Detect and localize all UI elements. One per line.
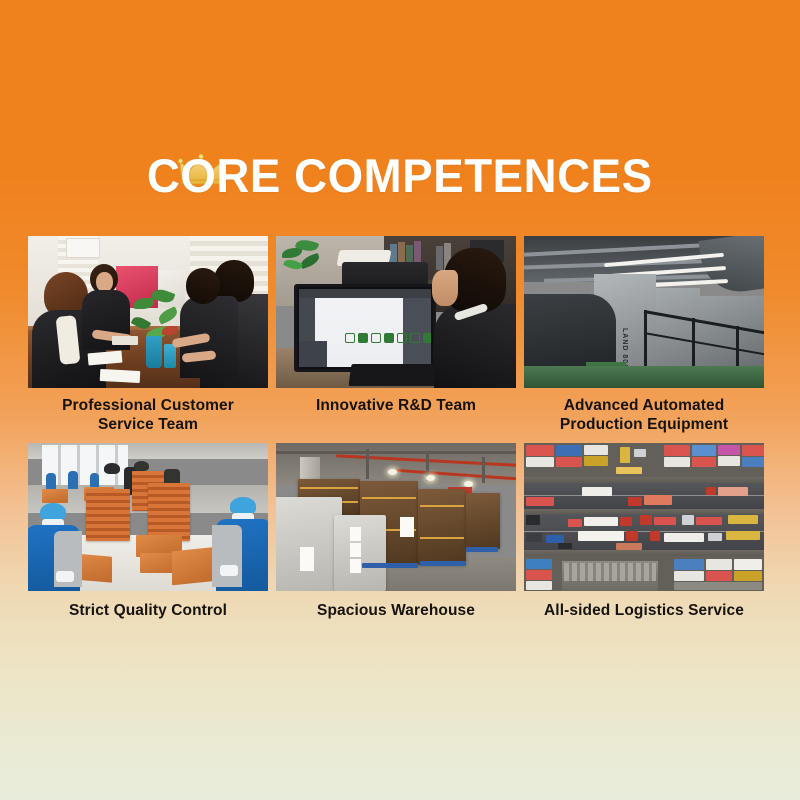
competence-card-all-sided-logistics-service[interactable]: All-sided Logistics Service [524,443,772,620]
page-title: CORE COMPETENCES [147,148,653,204]
caption-all-sided-logistics-service: All-sided Logistics Service [524,591,764,620]
caption-line-2: Production Equipment [524,415,764,434]
competence-card-advanced-automated-production-equipment[interactable]: LAND 800 Advanced Automated Production E… [524,236,772,434]
competences-grid: Professional Customer Service Team [28,236,772,620]
caption-line-1: Professional Customer [28,396,268,415]
competence-card-spacious-warehouse[interactable]: Spacious Warehouse [276,443,524,620]
competence-card-professional-customer-service-team[interactable]: Professional Customer Service Team [28,236,276,434]
photo-spacious-warehouse [276,443,516,591]
photo-advanced-automated-production-equipment: LAND 800 [524,236,764,388]
competence-card-strict-quality-control[interactable]: Strict Quality Control [28,443,276,620]
caption-line-2: Service Team [28,415,268,434]
caption-strict-quality-control: Strict Quality Control [28,591,268,620]
photo-professional-customer-service-team [28,236,268,388]
photo-all-sided-logistics-service [524,443,764,591]
caption-advanced-automated-production-equipment: Advanced Automated Production Equipment [524,388,764,434]
photo-innovative-rd-team [276,236,516,388]
caption-innovative-rd-team: Innovative R&D Team [276,388,516,415]
caption-line-1: All-sided Logistics Service [524,601,764,620]
competences-row-1: Professional Customer Service Team [28,236,772,434]
competences-row-2: Strict Quality Control [28,443,772,620]
caption-spacious-warehouse: Spacious Warehouse [276,591,516,620]
caption-line-1: Spacious Warehouse [276,601,516,620]
caption-professional-customer-service-team: Professional Customer Service Team [28,388,268,434]
caption-line-1: Strict Quality Control [28,601,268,620]
page-title-block: CORE COMPETENCES [0,148,800,204]
competence-card-innovative-rd-team[interactable]: Innovative R&D Team [276,236,524,434]
caption-line-1: Advanced Automated [524,396,764,415]
caption-line-1: Innovative R&D Team [276,396,516,415]
photo-strict-quality-control [28,443,268,591]
